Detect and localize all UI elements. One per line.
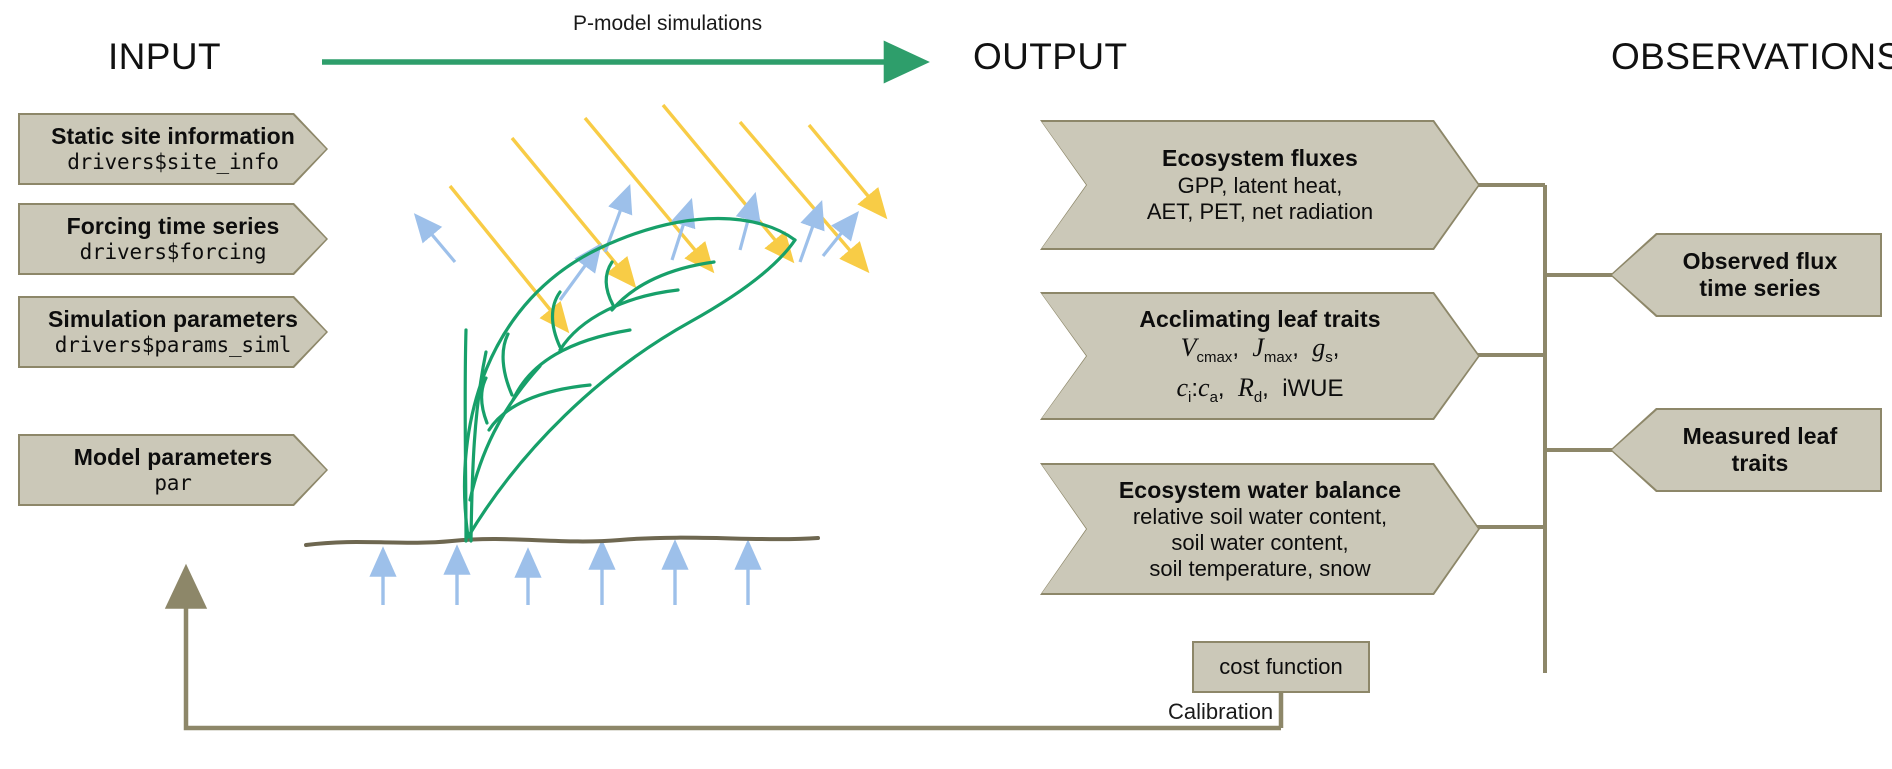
heading-output: OUTPUT	[973, 36, 1128, 78]
output-node-title: Acclimating leaf traits	[1139, 306, 1380, 333]
observation-node-line: Measured leaf	[1683, 423, 1838, 450]
output-node-line: GPP, latent heat,	[1147, 173, 1373, 199]
diagram-canvas: INPUT OUTPUT OBSERVATIONS P-model simula…	[0, 0, 1892, 769]
output-node-line: AET, PET, net radiation	[1147, 199, 1373, 225]
input-node-code: par	[74, 471, 272, 496]
sun-arrows	[450, 105, 883, 328]
leaf-plant-sketch	[465, 219, 795, 542]
observation-node-measured-leaf-traits[interactable]: Measured leaf traits	[1610, 408, 1882, 492]
soil-surface-line	[306, 538, 818, 545]
input-node-title: Model parameters	[74, 444, 272, 471]
input-node-title: Simulation parameters	[48, 306, 298, 333]
output-observation-connectors	[1477, 185, 1613, 673]
output-node-ecosystem-water-balance[interactable]: Ecosystem water balance relative soil wa…	[1040, 463, 1480, 595]
cost-function-label: cost function	[1219, 654, 1343, 680]
label-calibration: Calibration	[1168, 699, 1273, 725]
output-node-math-line-1: Vcmax, Jmax, gs,	[1139, 333, 1380, 366]
observation-node-line: traits	[1683, 450, 1838, 477]
output-node-line: relative soil water content,	[1119, 504, 1401, 530]
observation-node-line: Observed flux	[1683, 248, 1838, 275]
input-node-code: drivers$params_siml	[48, 333, 298, 358]
heading-observations: OBSERVATIONS	[1611, 36, 1892, 78]
input-node-content: Model parameters par	[64, 444, 282, 496]
cost-function-content: cost function	[1209, 654, 1353, 680]
calibration-feedback-path	[186, 575, 1281, 728]
input-node-content: Static site information drivers$site_inf…	[41, 123, 305, 175]
output-node-line: soil temperature, snow	[1119, 556, 1401, 582]
input-node-code: drivers$forcing	[67, 240, 280, 265]
label-p-model-simulations: P-model simulations	[573, 12, 762, 36]
input-node-content: Forcing time series drivers$forcing	[57, 213, 290, 265]
canopy-vapor-arrows	[418, 190, 855, 300]
output-node-content: Ecosystem water balance relative soil wa…	[1109, 477, 1411, 582]
input-node-forcing-time-series[interactable]: Forcing time series drivers$forcing	[18, 203, 328, 275]
cost-function-box[interactable]: cost function	[1192, 641, 1370, 693]
output-node-ecosystem-fluxes[interactable]: Ecosystem fluxes GPP, latent heat, AET, …	[1040, 120, 1480, 250]
output-node-line: soil water content,	[1119, 530, 1401, 556]
input-node-static-site-information[interactable]: Static site information drivers$site_inf…	[18, 113, 328, 185]
input-node-content: Simulation parameters drivers$params_sim…	[38, 306, 308, 358]
soil-evaporation-arrows	[383, 546, 748, 605]
output-node-math-line-2: ci:ca, Rd, iWUE	[1139, 373, 1380, 406]
output-node-title: Ecosystem water balance	[1119, 477, 1401, 504]
output-node-title: Ecosystem fluxes	[1147, 145, 1373, 172]
heading-input: INPUT	[108, 36, 221, 78]
input-node-code: drivers$site_info	[51, 150, 295, 175]
observation-node-line: time series	[1683, 275, 1838, 302]
output-node-acclimating-leaf-traits[interactable]: Acclimating leaf traits Vcmax, Jmax, gs,…	[1040, 292, 1480, 420]
observation-node-observed-flux-time-series[interactable]: Observed flux time series	[1610, 233, 1882, 317]
input-node-model-parameters[interactable]: Model parameters par	[18, 434, 328, 506]
input-node-title: Static site information	[51, 123, 295, 150]
input-node-title: Forcing time series	[67, 213, 280, 240]
observation-node-content: Measured leaf traits	[1645, 423, 1848, 477]
observation-node-content: Observed flux time series	[1645, 248, 1848, 302]
input-node-simulation-parameters[interactable]: Simulation parameters drivers$params_sim…	[18, 296, 328, 368]
output-node-content: Ecosystem fluxes GPP, latent heat, AET, …	[1137, 145, 1383, 224]
output-node-content: Acclimating leaf traits Vcmax, Jmax, gs,…	[1129, 306, 1390, 406]
